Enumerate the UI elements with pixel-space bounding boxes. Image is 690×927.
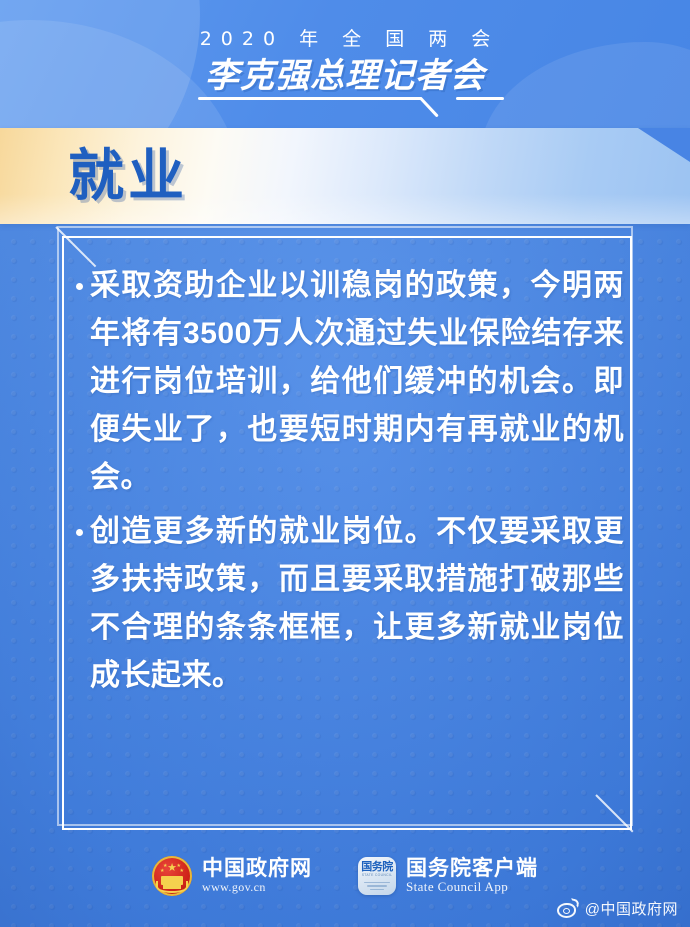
frame-fold-bottom-right-icon xyxy=(596,794,636,834)
state-council-app-icon: 国务院 STATE COUNCIL xyxy=(358,857,396,895)
poster-root: 2020 年 全 国 两 会 李克强总理记者会 就业 采取资助企业以训稳岗的政策… xyxy=(0,0,690,927)
brand-state-council-app[interactable]: 国务院 STATE COUNCIL 国务院客户端 State Council A… xyxy=(358,857,538,895)
header-kicker: 2020 年 全 国 两 会 xyxy=(0,24,690,51)
title-banner-corner-cut xyxy=(638,128,690,162)
brand-china-gov-name: 中国政府网 xyxy=(202,858,312,881)
header-rule-main xyxy=(198,97,422,100)
bullet-text: 创造更多新的就业岗位。不仅要采取更多扶持政策，而且要采取措施打破那些不合理的条条… xyxy=(90,508,624,700)
app-icon-label-en: STATE COUNCIL xyxy=(362,874,393,877)
list-item: 采取资助企业以训稳岗的政策，今明两年将有3500万人次通过失业保险结存来进行岗位… xyxy=(76,262,624,502)
content-body: 采取资助企业以训稳岗的政策，今明两年将有3500万人次通过失业保险结存来进行岗位… xyxy=(76,262,624,706)
brand-china-gov-url: www.gov.cn xyxy=(202,881,312,894)
header-banner: 2020 年 全 国 两 会 李克强总理记者会 xyxy=(0,0,690,128)
page-title: 就业 xyxy=(68,148,188,204)
brand-state-council-text: 国务院客户端 State Council App xyxy=(406,858,538,895)
weibo-icon-swish xyxy=(569,898,579,908)
weibo-watermark[interactable]: @中国政府网 xyxy=(557,898,678,919)
brand-state-council-name: 国务院客户端 xyxy=(406,858,538,881)
header-rule-tick xyxy=(419,96,439,117)
brand-china-gov-text: 中国政府网 www.gov.cn xyxy=(202,858,312,894)
header-content: 2020 年 全 国 两 会 李克强总理记者会 xyxy=(0,0,690,128)
emblem-star-arc: ★ ★ ★ ★ xyxy=(159,863,185,877)
bullet-text: 采取资助企业以训稳岗的政策，今明两年将有3500万人次通过失业保险结存来进行岗位… xyxy=(90,262,624,502)
bullet-dot-icon xyxy=(76,283,83,290)
brand-china-gov[interactable]: ★ ★ ★ ★ ★ 中国政府网 www.gov.cn xyxy=(152,856,312,896)
weibo-icon-pupil xyxy=(563,908,570,914)
header-headline: 李克强总理记者会 xyxy=(0,48,690,97)
bullet-dot-icon xyxy=(76,529,83,536)
header-rule-dash xyxy=(456,97,504,100)
weibo-handle: @中国政府网 xyxy=(585,898,678,919)
weibo-icon xyxy=(557,899,579,918)
app-icon-lines xyxy=(364,880,390,891)
app-icon-label-cn: 国务院 xyxy=(361,862,393,873)
national-emblem-icon: ★ ★ ★ ★ ★ xyxy=(152,856,192,896)
brand-state-council-en: State Council App xyxy=(406,880,538,894)
emblem-wheat-sheaf xyxy=(156,881,188,893)
title-banner: 就业 xyxy=(0,128,690,224)
list-item: 创造更多新的就业岗位。不仅要采取更多扶持政策，而且要采取措施打破那些不合理的条条… xyxy=(76,508,624,700)
